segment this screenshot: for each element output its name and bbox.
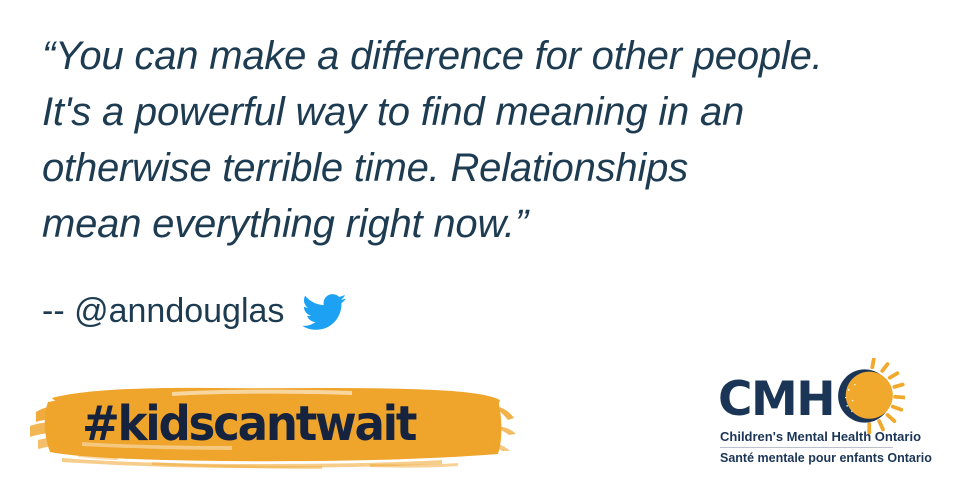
quote-line-1: “You can make a difference for other peo… bbox=[42, 28, 942, 84]
cmho-wordmark-row: CMH bbox=[718, 372, 905, 428]
cmho-tagline-english: Children's Mental Health Ontario bbox=[720, 428, 921, 445]
attribution-handle: -- @anndouglas bbox=[42, 291, 284, 331]
quote-block: “You can make a difference for other peo… bbox=[42, 28, 942, 252]
hashtag-banner: #kidscantwait bbox=[22, 378, 522, 470]
cmho-divider bbox=[720, 447, 893, 448]
cmho-tagline-french: Santé mentale pour enfants Ontario bbox=[720, 450, 932, 467]
attribution: -- @anndouglas bbox=[42, 288, 350, 334]
cmho-wordmark: CMH bbox=[718, 375, 834, 425]
quote-line-4: mean everything right now.” bbox=[42, 196, 942, 252]
quote-line-2: It's a powerful way to find meaning in a… bbox=[42, 84, 942, 140]
hashtag-label: #kidscantwait bbox=[82, 397, 415, 451]
cmho-logo: CMH bbox=[718, 372, 966, 472]
quote-line-3: otherwise terrible time. Relationships bbox=[42, 140, 942, 196]
twitter-bird-icon bbox=[298, 290, 350, 334]
quote-graphic-canvas: “You can make a difference for other peo… bbox=[0, 0, 980, 490]
sun-moon-icon bbox=[829, 358, 905, 434]
